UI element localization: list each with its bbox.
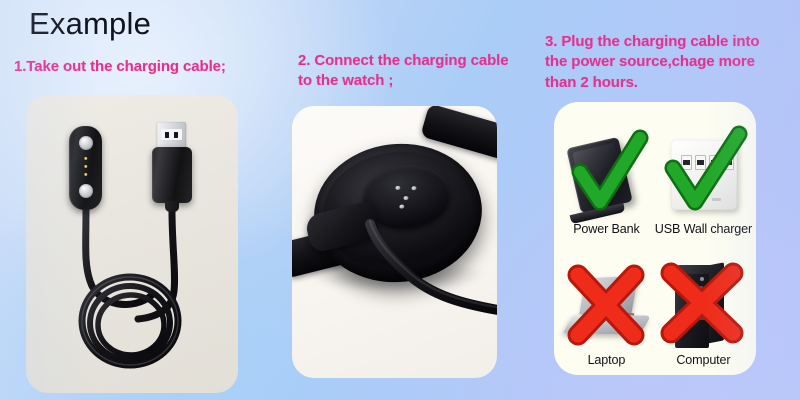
usb-ports [681, 155, 734, 170]
magnet-contact-top [79, 136, 93, 150]
usb-port-2 [695, 155, 706, 170]
usb-wall-charger-icon [671, 140, 737, 210]
pogo-pin-3 [84, 173, 87, 176]
power-bank-image [558, 130, 654, 222]
page-title: Example [29, 7, 151, 42]
usb-a-connector-metal [157, 122, 186, 148]
watch-charging-cable [292, 106, 497, 378]
usb-wall-charger-image [655, 130, 751, 222]
tower-drive-slot-2 [679, 291, 703, 293]
computer-image [655, 261, 751, 353]
step-2-caption: 2. Connect the charging cable to the wat… [298, 51, 508, 92]
step-3-image-card: Power Bank [554, 102, 756, 375]
magnet-contact-bottom [79, 184, 93, 198]
tower-side-panel [707, 263, 724, 344]
laptop-icon [566, 277, 648, 339]
usb-a-connector-housing [152, 147, 192, 203]
power-source-label: Laptop [588, 354, 626, 367]
step-2-image-card [292, 106, 497, 378]
power-source-item-usb-wall-charger: USB Wall charger [655, 108, 752, 240]
tower-front-panel [675, 270, 709, 348]
power-source-label: Computer [676, 354, 730, 367]
watch-charging-illustration [292, 106, 497, 378]
magnetic-charger-puck [69, 126, 102, 210]
tower-trim-band [675, 316, 709, 320]
pogo-pin-2 [84, 165, 87, 168]
power-source-item-computer: Computer [655, 240, 752, 372]
power-source-label: Power Bank [573, 223, 639, 236]
power-source-item-power-bank: Power Bank [558, 108, 655, 240]
charger-markings [671, 198, 737, 201]
tower-drive-slot-1 [679, 286, 703, 288]
usb-port-4 [723, 155, 734, 170]
screenshot-stage: Example 1.Take out the charging cable; 2… [0, 0, 800, 400]
power-source-item-laptop: Laptop [558, 240, 655, 372]
charger-marking-left [688, 198, 697, 201]
laptop-image [558, 261, 654, 353]
usb-port-3 [709, 155, 720, 170]
laptop-base [563, 315, 652, 335]
power-bank-icon [567, 137, 633, 213]
pogo-pin-1 [84, 157, 87, 160]
desktop-computer-icon [675, 264, 723, 348]
power-source-grid: Power Bank [554, 102, 756, 375]
usb-pin-right [174, 132, 179, 138]
step-1-image-card [26, 95, 238, 393]
step-3-caption: 3. Plug the charging cable into the powe… [545, 32, 759, 93]
usb-strain-relief [165, 201, 179, 212]
usb-tongue [161, 129, 182, 140]
step-1-caption: 1.Take out the charging cable; [14, 57, 226, 77]
usb-pin-left [165, 132, 170, 138]
tower-top-panel [673, 265, 723, 274]
power-source-label: USB Wall charger [655, 223, 752, 236]
charger-marking-right [712, 198, 721, 201]
charging-cable-illustration [26, 95, 238, 393]
usb-port-1 [681, 155, 692, 170]
cable-wire [26, 95, 238, 393]
